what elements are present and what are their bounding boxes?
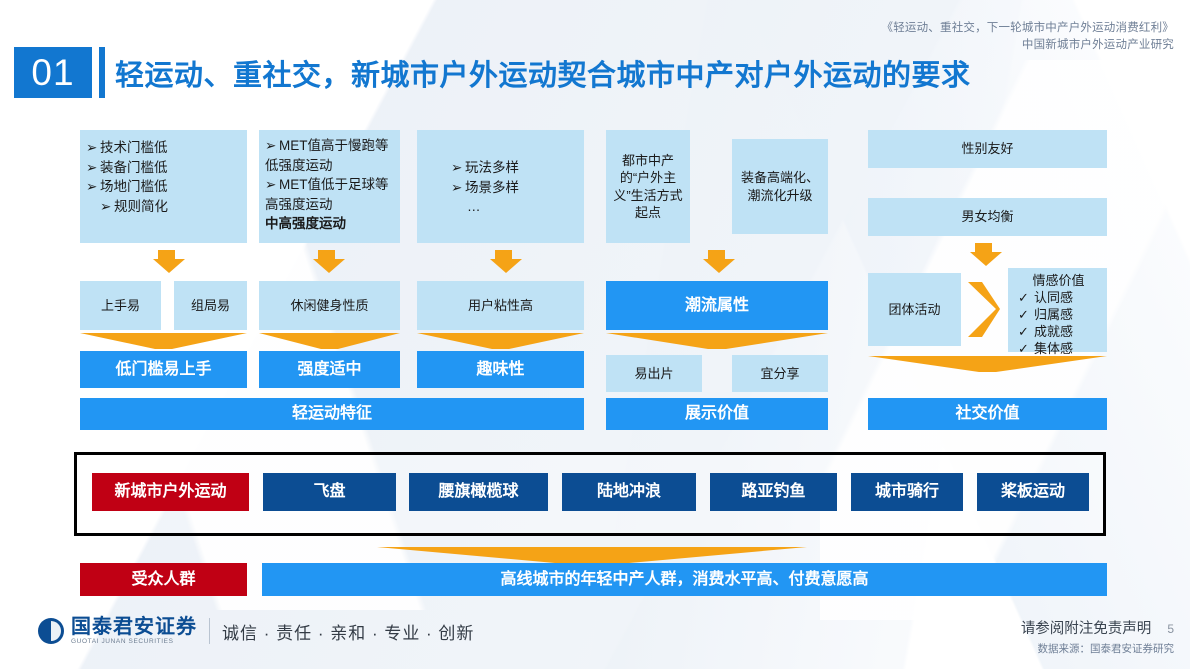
logo-divider — [209, 618, 210, 644]
emotion-value-list: ✓认同感 ✓归属感 ✓成就感 ✓集体感 — [1014, 290, 1103, 358]
sport-item-paddle-board[interactable]: 桨板运动 — [977, 473, 1089, 511]
feature-box-met: ➢MET值高于慢跑等低强度运动 ➢MET值低于足球等高强度运动 中高强度运动 — [259, 130, 400, 243]
page-title: 轻运动、重社交，新城市户外运动契合城市中产对户外运动的要求 — [115, 52, 971, 94]
funnel-arrow-social — [868, 356, 1107, 372]
feature-box-outdoor-lifestyle: 都市中产的“户外主义”生活方式起点 — [606, 130, 690, 243]
list-item: ✓认同感 — [1018, 290, 1103, 307]
funnel-arrow-intensity — [259, 333, 400, 349]
company-slogan: 诚信 · 责任 · 亲和 · 专业 · 创新 — [222, 619, 474, 644]
bullet-icon: ➢ — [86, 177, 100, 197]
sport-item-city-cycling[interactable]: 城市骑行 — [851, 473, 963, 511]
title-rule — [99, 47, 105, 98]
summary-box-display-value: 展示价值 — [606, 398, 828, 430]
trait-box-trend-attribute: 潮流属性 — [606, 281, 828, 330]
section-number-badge: 01 — [14, 47, 92, 98]
sport-item-flag-football[interactable]: 腰旗橄榄球 — [409, 473, 548, 511]
check-icon: ✓ — [1018, 307, 1034, 324]
list-item: ➢装备门槛低 — [86, 158, 241, 178]
logo-name-en: GUOTAI JUNAN SECURITIES — [71, 638, 197, 645]
feature-box-barriers: ➢技术门槛低 ➢装备门槛低 ➢场地门槛低 ➢规则简化 — [80, 130, 247, 243]
audience-description: 高线城市的年轻中产人群，消费水平高、付费意愿高 — [262, 563, 1107, 596]
page-number: 5 — [1167, 622, 1174, 636]
result-box-moderate-intensity: 强度适中 — [259, 351, 400, 388]
disclaimer-text: 请参阅附注免责声明 — [1021, 617, 1152, 638]
sport-item-lure-fishing[interactable]: 路亚钓鱼 — [710, 473, 837, 511]
met-conclusion: 中高强度运动 — [265, 214, 394, 234]
data-source: 数据来源：国泰君安证券研究 — [1021, 641, 1174, 656]
slide-canvas: 《轻运动、重社交，下一轮城市中产户外运动消费红利》 中国新城市户外运动产业研究 … — [0, 0, 1190, 669]
check-icon: ✓ — [1018, 341, 1034, 358]
list-item: ➢玩法多样 — [451, 158, 578, 178]
result-box-fun: 趣味性 — [417, 351, 584, 388]
bullet-icon: ➢ — [265, 136, 279, 156]
met-bullet-2: ➢MET值低于足球等高强度运动 — [265, 175, 394, 214]
list-item: ➢规则简化 — [86, 197, 241, 217]
list-item-ellipsis: … — [451, 197, 578, 217]
summary-box-light-sport-traits: 轻运动特征 — [80, 398, 584, 430]
barriers-bullet-list: ➢技术门槛低 ➢装备门槛低 ➢场地门槛低 ➢规则简化 — [86, 138, 241, 216]
sport-item-frisbee[interactable]: 飞盘 — [263, 473, 396, 511]
feature-box-gender-balance: 男女均衡 — [868, 198, 1107, 236]
sport-item-land-surfing[interactable]: 陆地冲浪 — [562, 473, 696, 511]
check-icon: ✓ — [1018, 290, 1034, 307]
feature-box-gear-upgrade: 装备高端化、潮流化升级 — [732, 139, 828, 234]
list-item: ➢场地门槛低 — [86, 177, 241, 197]
list-item: ✓归属感 — [1018, 307, 1103, 324]
list-item: ✓成就感 — [1018, 324, 1103, 341]
footer-right: 请参阅附注免责声明 5 数据来源：国泰君安证券研究 — [1021, 617, 1174, 656]
logo-mark-icon — [38, 618, 64, 644]
trait-box-easy-group: 组局易 — [174, 281, 247, 330]
variety-bullet-list: ➢玩法多样 ➢场景多样 … — [423, 158, 578, 217]
logo-name-cn: 国泰君安证券 — [71, 617, 197, 637]
funnel-arrow-light-sport — [80, 333, 247, 349]
funnel-arrow-fun — [417, 333, 584, 349]
logo-wordmark: 国泰君安证券 GUOTAI JUNAN SECURITIES — [71, 617, 197, 645]
met-bullet-1: ➢MET值高于慢跑等低强度运动 — [265, 136, 394, 175]
result-box-photogenic: 易出片 — [606, 355, 702, 392]
bullet-icon: ➢ — [86, 138, 100, 158]
check-icon: ✓ — [1018, 324, 1034, 341]
chevron-right-icon — [966, 280, 1002, 340]
report-reference: 《轻运动、重社交，下一轮城市中产户外运动消费红利》 中国新城市户外运动产业研究 — [882, 20, 1175, 54]
funnel-arrow-display — [606, 333, 828, 349]
bullet-icon: ➢ — [451, 158, 465, 178]
list-item: ➢技术门槛低 — [86, 138, 241, 158]
bullet-icon: ➢ — [86, 158, 100, 178]
bullet-icon: ➢ — [100, 197, 114, 217]
feature-box-gender-friendly: 性别友好 — [868, 130, 1107, 168]
result-box-low-barrier: 低门槛易上手 — [80, 351, 247, 388]
list-item: ➢场景多样 — [451, 178, 578, 198]
trait-box-leisure-fitness: 休闲健身性质 — [259, 281, 400, 330]
trait-box-group-activity: 团体活动 — [868, 273, 961, 346]
emotion-value-box: 情感价值 ✓认同感 ✓归属感 ✓成就感 ✓集体感 — [1008, 268, 1107, 352]
audience-label: 受众人群 — [80, 563, 247, 596]
bullet-icon: ➢ — [451, 178, 465, 198]
emotion-value-title: 情感价值 — [1014, 273, 1103, 290]
disclaimer-row: 请参阅附注免责声明 5 — [1021, 617, 1174, 638]
report-reference-line1: 《轻运动、重社交，下一轮城市中产户外运动消费红利》 — [882, 20, 1175, 37]
summary-box-social-value: 社交价值 — [868, 398, 1107, 430]
sport-item-new-city-outdoor[interactable]: 新城市户外运动 — [92, 473, 249, 511]
company-logo: 国泰君安证券 GUOTAI JUNAN SECURITIES 诚信 · 责任 ·… — [38, 617, 474, 645]
feature-box-variety: ➢玩法多样 ➢场景多样 … — [417, 130, 584, 243]
list-item: ✓集体感 — [1018, 341, 1103, 358]
result-box-shareable: 宜分享 — [732, 355, 828, 392]
bullet-icon: ➢ — [265, 175, 279, 195]
trait-box-user-stickiness: 用户粘性高 — [417, 281, 584, 330]
trait-box-easy-start: 上手易 — [80, 281, 161, 330]
